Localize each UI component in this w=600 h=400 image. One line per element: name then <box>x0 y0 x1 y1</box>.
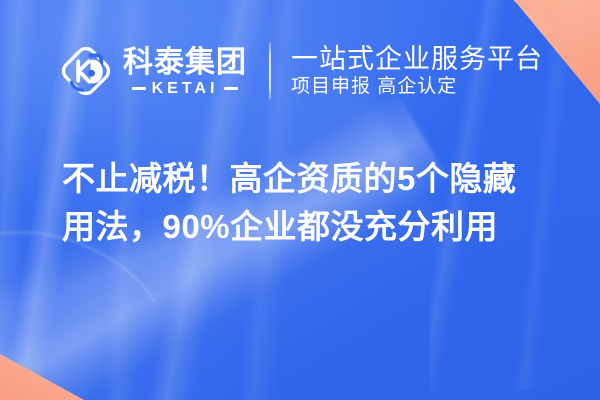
dash-left-icon <box>132 87 146 90</box>
brand-name-en-row: KETAI <box>123 81 247 97</box>
tagline-main: 一站式企业服务平台 <box>291 45 543 73</box>
dash-right-icon <box>224 87 238 90</box>
brand-logo[interactable]: 科泰集团 KETAI <box>58 43 247 99</box>
ketai-diamond-monogram-icon <box>58 43 114 99</box>
banner-header: 科泰集团 KETAI 一站式企业服务平台 项目申报 高企认定 <box>58 42 543 100</box>
header-divider <box>269 42 271 100</box>
brand-wordmark: 科泰集团 KETAI <box>123 46 247 97</box>
tagline-block: 一站式企业服务平台 项目申报 高企认定 <box>291 45 543 97</box>
promo-banner: 科泰集团 KETAI 一站式企业服务平台 项目申报 高企认定 不止减税！高企资质… <box>0 0 600 400</box>
brand-name-en: KETAI <box>152 81 219 97</box>
tagline-sub: 项目申报 高企认定 <box>291 77 543 97</box>
headline-text: 不止减税！高企资质的5个隐藏用法，90%企业都没充分利用 <box>62 155 542 251</box>
brand-name-cn: 科泰集团 <box>123 48 247 78</box>
